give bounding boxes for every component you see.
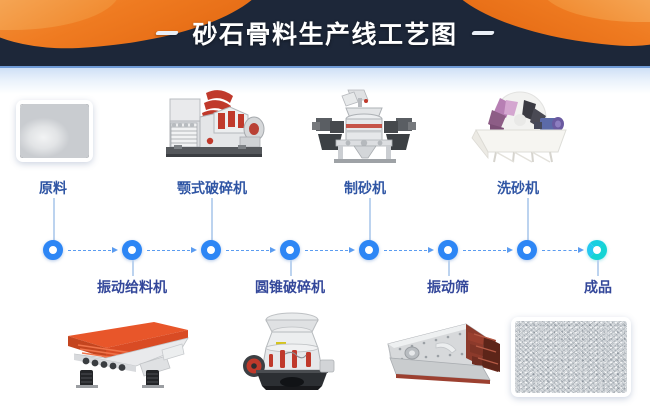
label-vibrating-screen: 振动筛 xyxy=(411,277,485,297)
page-title: 砂石骨料生产线工艺图 xyxy=(0,0,650,66)
arrow-head-icon xyxy=(191,247,197,253)
flow-node-4[interactable] xyxy=(280,240,300,260)
stem-sand-washer xyxy=(527,198,529,240)
arrow-head-icon xyxy=(112,247,118,253)
jaw-crusher-icon xyxy=(156,83,274,165)
flow-node-6[interactable] xyxy=(438,240,458,260)
label-raw-material: 原料 xyxy=(13,178,93,198)
arrow-line xyxy=(226,250,269,251)
raw-material-photo-card xyxy=(16,100,93,162)
raw-material-image xyxy=(20,104,89,158)
arrow-head-icon xyxy=(507,247,513,253)
dash-left-icon xyxy=(156,31,180,35)
page-title-text: 砂石骨料生产线工艺图 xyxy=(192,15,457,51)
stem-jaw-crusher xyxy=(211,198,213,240)
stem-cone-crusher xyxy=(290,260,292,276)
flow-arrow-5 xyxy=(384,245,434,255)
flow-node-8-finished[interactable] xyxy=(587,240,607,260)
flow-node-3[interactable] xyxy=(201,240,221,260)
diagram-canvas: 原料 颚式破碎机 制砂机 洗砂机 振动给料机 圆锥破碎机 振动 xyxy=(0,68,650,414)
label-vibrating-feeder: 振动给料机 xyxy=(82,277,182,297)
label-sand-making-machine: 制砂机 xyxy=(325,178,405,198)
rock-texture xyxy=(20,104,89,158)
finished-product-photo-card xyxy=(511,317,631,397)
cone-crusher-icon xyxy=(236,308,346,392)
arrow-line xyxy=(68,250,111,251)
vibrating-screen-icon xyxy=(382,318,510,390)
vibrating-feeder-icon xyxy=(62,314,192,390)
label-sand-washer: 洗砂机 xyxy=(478,178,558,198)
stem-raw-material xyxy=(53,198,55,240)
label-finished-product: 成品 xyxy=(570,277,626,297)
arrow-head-icon xyxy=(349,247,355,253)
stem-vibrating-screen xyxy=(448,260,450,276)
stem-sand-making-machine xyxy=(369,198,371,240)
flow-node-7[interactable] xyxy=(517,240,537,260)
arrow-line xyxy=(384,250,427,251)
flow-arrow-2 xyxy=(147,245,197,255)
dash-right-icon xyxy=(471,31,495,35)
sand-maker-icon xyxy=(308,88,420,164)
label-jaw-crusher: 颚式破碎机 xyxy=(162,178,262,198)
label-cone-crusher: 圆锥破碎机 xyxy=(240,277,340,297)
arrow-line xyxy=(305,250,348,251)
jaw-crusher-illustration xyxy=(156,83,274,165)
flow-arrow-4 xyxy=(305,245,355,255)
stem-finished-product xyxy=(597,260,599,276)
finished-product-image xyxy=(515,321,627,393)
arrow-line xyxy=(542,250,577,251)
vibrating-screen-illustration xyxy=(382,318,510,390)
arrow-head-icon xyxy=(270,247,276,253)
vibrating-feeder-illustration xyxy=(62,314,192,390)
flow-node-2[interactable] xyxy=(122,240,142,260)
sand-washer-icon xyxy=(462,90,574,164)
cone-crusher-illustration xyxy=(236,308,346,392)
header-banner: 砂石骨料生产线工艺图 xyxy=(0,0,650,66)
flow-node-5[interactable] xyxy=(359,240,379,260)
arrow-line xyxy=(147,250,190,251)
arrow-head-icon xyxy=(578,247,584,253)
flow-node-1[interactable] xyxy=(43,240,63,260)
flow-arrow-6 xyxy=(463,245,513,255)
sand-washer-illustration xyxy=(462,90,574,164)
sand-making-machine-illustration xyxy=(308,88,420,164)
stem-vibrating-feeder xyxy=(132,260,134,276)
arrow-line xyxy=(463,250,506,251)
arrow-head-icon xyxy=(428,247,434,253)
flow-arrow-3 xyxy=(226,245,276,255)
flow-arrow-7 xyxy=(542,245,584,255)
sand-texture xyxy=(515,321,627,393)
flow-arrow-1 xyxy=(68,245,118,255)
process-flow-diagram: 砂石骨料生产线工艺图 xyxy=(0,0,650,414)
